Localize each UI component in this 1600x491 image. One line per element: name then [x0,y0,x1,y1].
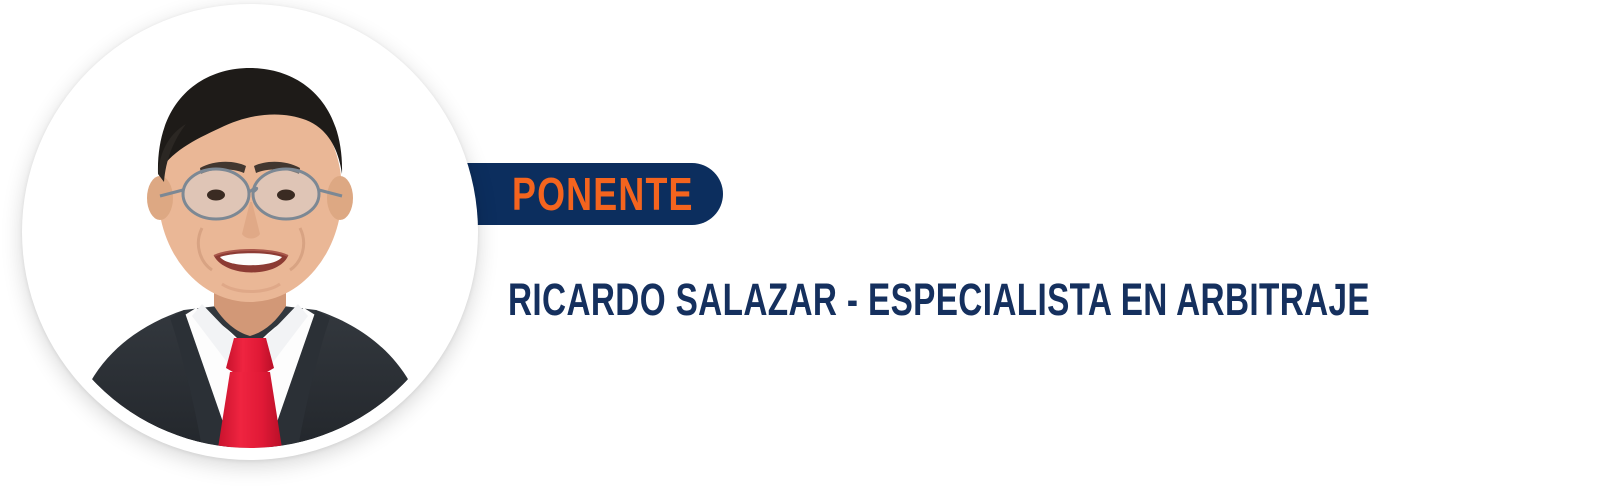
ponente-badge-label: PONENTE [512,171,694,217]
speaker-banner: PONENTE RICARDO SALAZAR - ESPECIALISTA E… [0,0,1600,491]
speaker-photo [34,16,466,448]
portrait-illustration [34,16,466,448]
speaker-name-and-role: RICARDO SALAZAR - ESPECIALISTA EN ARBITR… [508,277,1370,322]
speaker-photo-frame [22,4,478,460]
